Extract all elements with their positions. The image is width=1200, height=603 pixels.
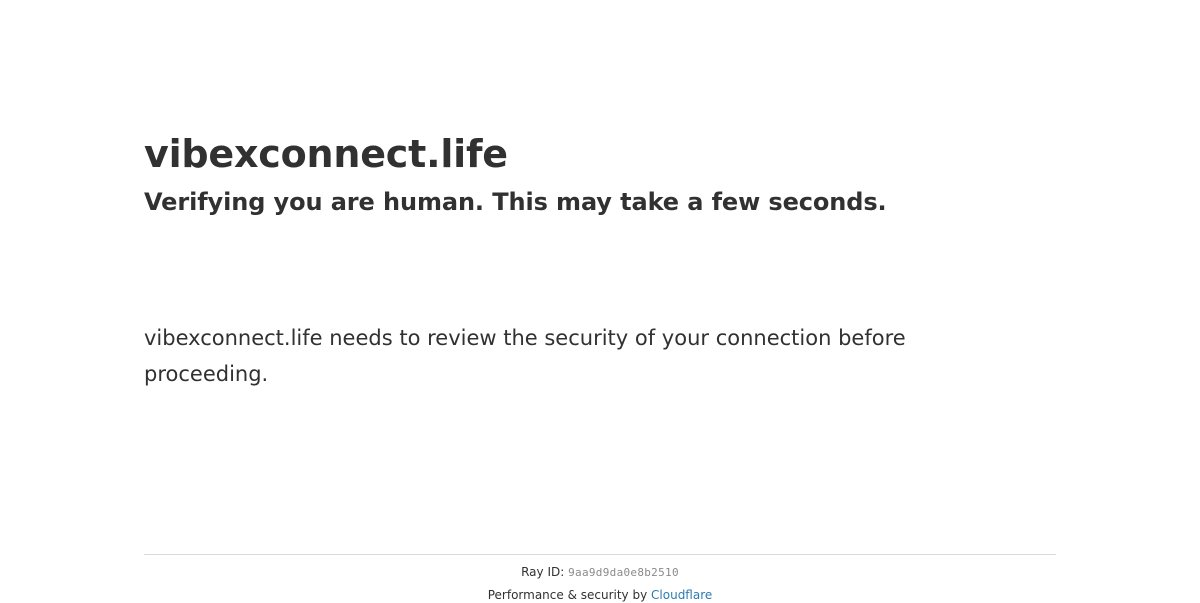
challenge-page: vibexconnect.life Verifying you are huma… — [0, 0, 1200, 600]
ray-id-label: Ray ID: — [521, 565, 564, 579]
attribution-line: Performance & security by Cloudflare — [144, 588, 1056, 603]
challenge-status-heading: Verifying you are human. This may take a… — [144, 187, 1056, 218]
content-container: vibexconnect.life Verifying you are huma… — [144, 0, 1056, 600]
challenge-body-text: vibexconnect.life needs to review the se… — [144, 320, 944, 392]
header: vibexconnect.life Verifying you are huma… — [144, 130, 1056, 219]
turnstile-challenge-widget[interactable] — [144, 232, 464, 310]
footer: Ray ID: 9aa9d9da0e8b2510 Performance & s… — [144, 554, 1056, 603]
ray-id-line: Ray ID: 9aa9d9da0e8b2510 — [144, 565, 1056, 580]
page-title: vibexconnect.life — [144, 130, 1056, 179]
footer-inner: Ray ID: 9aa9d9da0e8b2510 Performance & s… — [144, 555, 1056, 603]
ray-id-value: 9aa9d9da0e8b2510 — [568, 566, 679, 579]
